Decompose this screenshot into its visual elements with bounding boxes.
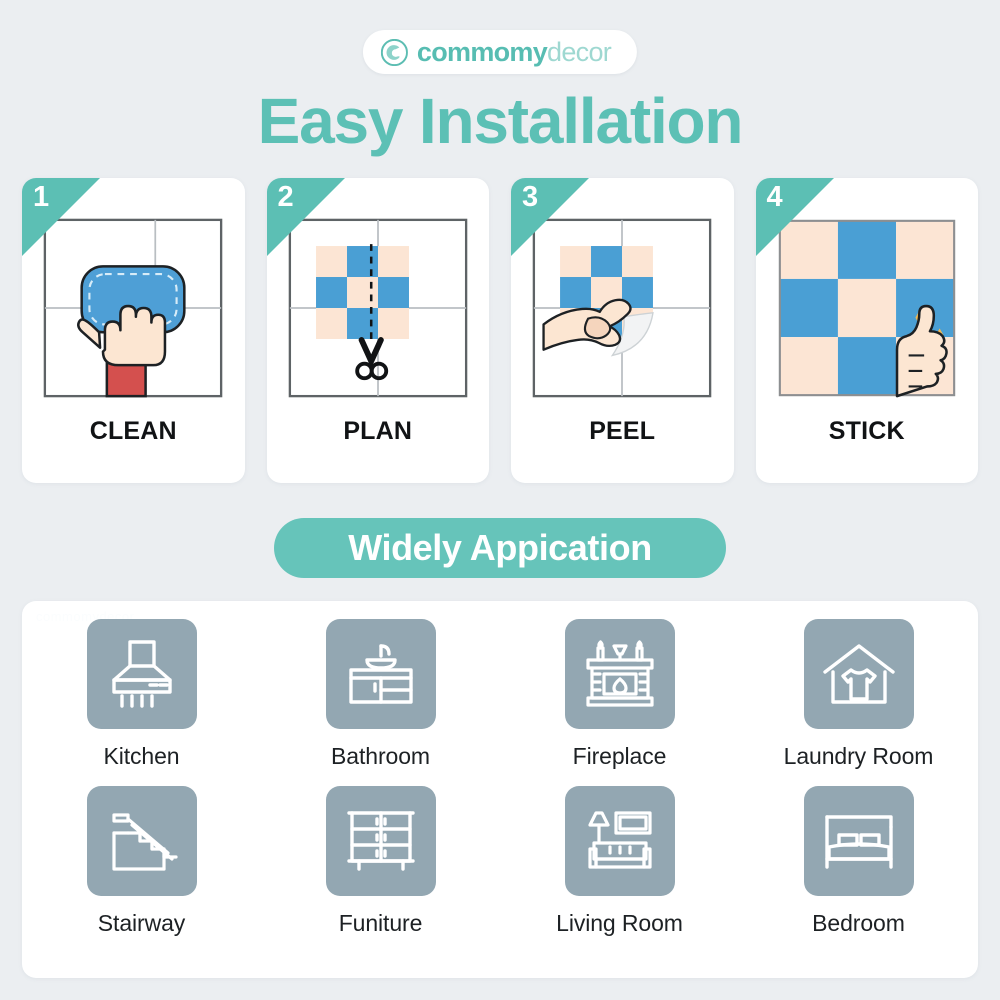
step-card-stick: 4	[756, 178, 979, 483]
application-item-stairway: Stairway	[22, 786, 261, 937]
brand-name-secondary: decor	[547, 37, 611, 67]
house-with-tshirt-icon	[804, 619, 914, 729]
finished-tile-with-thumbs-up-icon	[775, 216, 959, 400]
commomy-circle-logo-icon	[381, 39, 408, 66]
application-label: Bedroom	[812, 910, 905, 937]
banner-label: Widely Appication	[348, 527, 652, 569]
application-label: Bathroom	[331, 743, 430, 770]
application-label: Living Room	[556, 910, 683, 937]
step-label: PLAN	[343, 417, 412, 446]
brand-name-primary: commomy	[417, 37, 547, 67]
application-item-living-room: Living Room	[500, 786, 739, 937]
bathroom-vanity-sink-icon	[326, 619, 436, 729]
staircase-icon	[87, 786, 197, 896]
application-label: Laundry Room	[784, 743, 934, 770]
application-item-fireplace: Fireplace	[500, 619, 739, 770]
application-item-bathroom: Bathroom	[261, 619, 500, 770]
application-item-kitchen: Kitchen	[22, 619, 261, 770]
step-number: 3	[522, 183, 538, 212]
step-card-peel: 3	[511, 178, 734, 483]
application-item-laundry-room: Laundry Room	[739, 619, 978, 770]
step-number: 4	[767, 183, 783, 212]
step-number: 1	[33, 183, 49, 212]
step-card-clean: 1 CLEAN	[22, 178, 245, 483]
cabinet-dresser-icon	[326, 786, 436, 896]
application-label: Kitchen	[103, 743, 179, 770]
step-label: STICK	[829, 417, 905, 446]
application-label: Fireplace	[573, 743, 667, 770]
hand-wiping-tile-with-cloth-icon	[41, 216, 225, 400]
application-item-funiture: Funiture	[261, 786, 500, 937]
widely-application-banner: Widely Appication	[274, 518, 726, 578]
checkerboard-tile-with-scissors-cut-line-icon	[286, 216, 470, 400]
fireplace-mantel-icon	[565, 619, 675, 729]
hand-peeling-tile-backing-icon	[530, 216, 714, 400]
brand-name: commomydecor	[417, 37, 611, 68]
application-item-bedroom: Bedroom	[739, 786, 978, 937]
step-card-plan: 2	[267, 178, 490, 483]
sofa-lamp-tv-icon	[565, 786, 675, 896]
step-label: PEEL	[589, 417, 655, 446]
application-label: Funiture	[339, 910, 423, 937]
brand-logo: commomydecor	[363, 30, 637, 74]
step-label: CLEAN	[90, 417, 177, 446]
bed-icon	[804, 786, 914, 896]
infographic-page: commomydecor Easy Installation 1	[0, 0, 1000, 1000]
applications-panel: commomydecor Kitchen	[22, 601, 978, 978]
page-title: Easy Installation	[0, 84, 1000, 158]
step-number: 2	[278, 183, 294, 212]
applications-grid: Kitchen	[22, 619, 978, 937]
application-label: Stairway	[98, 910, 185, 937]
installation-steps: 1 CLEAN	[22, 178, 978, 483]
range-hood-icon	[87, 619, 197, 729]
